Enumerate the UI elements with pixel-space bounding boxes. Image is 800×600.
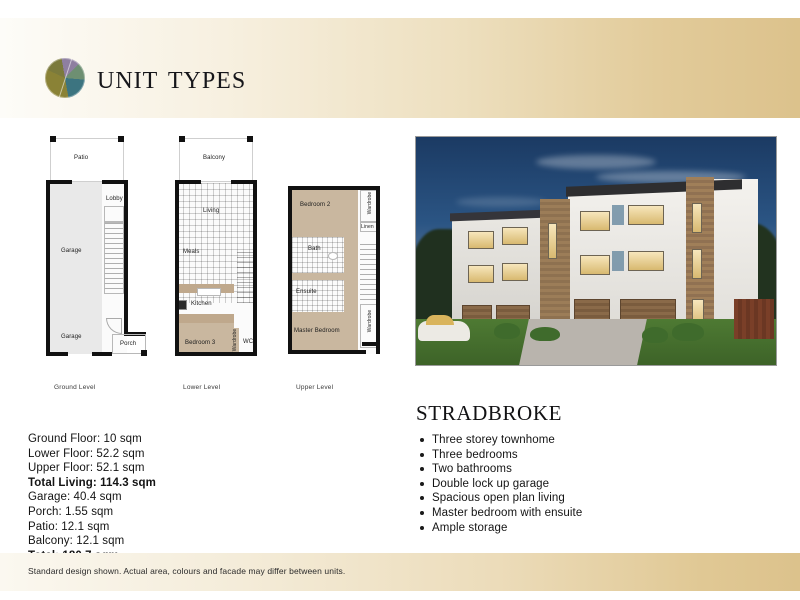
area-row: Balcony: 12.1 sqm xyxy=(28,534,258,549)
upper-wall-left xyxy=(288,186,292,354)
room-label-lobby: Lobby xyxy=(106,196,123,202)
window-shade-panel xyxy=(612,251,624,271)
upper-wall-right xyxy=(376,186,380,354)
window-shade-panel xyxy=(612,205,624,225)
wall-left xyxy=(46,180,50,356)
timber-fence xyxy=(734,299,774,339)
window-icon xyxy=(692,249,702,279)
bullet-icon xyxy=(420,482,424,486)
room-label-linen: Linen xyxy=(361,224,374,230)
plan-caption-ground: Ground Level xyxy=(54,384,95,391)
feature-label: Three bedrooms xyxy=(432,448,518,463)
kitchen-island xyxy=(197,288,221,296)
room-label-garage-bottom: Garage xyxy=(61,334,82,340)
bullet-icon xyxy=(420,453,424,457)
unit-types-page: Unit Types Patio Lobby xyxy=(0,0,800,600)
area-row: Patio: 12.1 sqm xyxy=(28,520,258,535)
header-inner: Unit Types xyxy=(45,58,246,98)
window-icon xyxy=(580,211,610,231)
footer-disclaimer: Standard design shown. Actual area, colo… xyxy=(28,566,345,576)
list-item: Double lock up garage xyxy=(420,477,760,492)
area-summary-list: Ground Floor: 10 sqm Lower Floor: 52.2 s… xyxy=(28,432,258,563)
room-label-bath: Bath xyxy=(308,246,321,252)
room-label-ensuite: Ensuite xyxy=(296,289,317,295)
list-item: Two bathrooms xyxy=(420,462,760,477)
patio-post-left xyxy=(50,136,56,142)
area-row: Garage: 40.4 sqm xyxy=(28,490,258,505)
page-title: Unit Types xyxy=(97,61,246,95)
patio-post-right xyxy=(118,136,124,142)
ensuite-tile xyxy=(292,280,344,312)
wall-bottom-mid xyxy=(92,352,112,356)
driveway xyxy=(519,319,647,365)
wall-bottom-left xyxy=(46,352,68,356)
lower-wall-right xyxy=(253,180,257,356)
room-label-bedroom2: Bedroom 2 xyxy=(300,202,330,208)
shrub xyxy=(530,327,560,341)
window-icon xyxy=(502,227,528,245)
room-label-patio: Patio xyxy=(74,155,88,161)
bullet-icon xyxy=(420,467,424,471)
window-icon xyxy=(692,203,702,233)
bullet-icon xyxy=(420,438,424,442)
room-label-wc: WC xyxy=(243,339,253,345)
feature-label: Spacious open plan living xyxy=(432,491,565,506)
stair-treads xyxy=(105,223,123,293)
room-label-meals: Meals xyxy=(183,249,200,255)
window-icon xyxy=(580,255,610,275)
room-label-balcony: Balcony xyxy=(203,155,225,161)
upper-wall-step xyxy=(362,342,380,346)
balcony-post-right xyxy=(247,136,253,142)
plan-caption-upper: Upper Level xyxy=(296,384,333,391)
plan-caption-lower: Lower Level xyxy=(183,384,220,391)
list-item: Three bedrooms xyxy=(420,448,760,463)
kitchen-bench-lower xyxy=(176,314,234,323)
circle-segments-logo-icon xyxy=(45,58,85,98)
car xyxy=(418,321,470,341)
window-icon xyxy=(468,231,494,249)
bullet-icon xyxy=(420,511,424,515)
room-label-garage-top: Garage xyxy=(61,248,82,254)
stair-landing xyxy=(104,206,124,222)
basin-icon xyxy=(328,252,338,260)
wall-right xyxy=(124,180,128,336)
shrub xyxy=(672,323,704,341)
feature-label: Three storey townhome xyxy=(432,433,555,448)
bullet-icon xyxy=(420,526,424,530)
timber-cladding-left xyxy=(540,199,570,321)
list-item: Three storey townhome xyxy=(420,433,760,448)
lower-wall-left xyxy=(175,180,179,356)
area-row: Upper Floor: 52.1 sqm xyxy=(28,461,258,476)
balcony-post-left xyxy=(179,136,185,142)
room-label-bedroom3: Bedroom 3 xyxy=(185,340,215,346)
cloud-icon xyxy=(536,155,656,169)
feature-list: Three storey townhome Three bedrooms Two… xyxy=(420,433,760,535)
header-band: Unit Types xyxy=(0,18,800,118)
bedroom3-floor xyxy=(176,323,234,354)
porch-post xyxy=(141,350,147,356)
shrub xyxy=(494,323,520,339)
window-icon xyxy=(628,205,664,225)
room-label-master-bedroom: Master Bedroom xyxy=(294,328,340,334)
room-label-kitchen: Kitchen xyxy=(191,301,212,307)
window-icon xyxy=(468,265,494,283)
feature-label: Double lock up garage xyxy=(432,477,549,492)
area-row: Lower Floor: 52.2 sqm xyxy=(28,447,258,462)
upper-wall-bottom xyxy=(288,350,366,354)
townhouse-render-photo xyxy=(415,136,777,366)
feature-label: Ample storage xyxy=(432,521,507,536)
room-label-wardrobe-lower: Wardrobe xyxy=(232,327,238,353)
list-item: Ample storage xyxy=(420,521,760,536)
feature-label: Master bedroom with ensuite xyxy=(432,506,582,521)
lower-wall-bottom xyxy=(175,352,257,356)
room-label-porch: Porch xyxy=(120,341,136,347)
area-row-total-living: Total Living: 114.3 sqm xyxy=(28,476,258,491)
room-label-living: Living xyxy=(203,208,219,214)
shrub xyxy=(642,327,668,343)
window-icon xyxy=(628,251,664,271)
window-icon xyxy=(548,223,557,259)
area-row: Ground Floor: 10 sqm xyxy=(28,432,258,447)
upper-wall-top xyxy=(288,186,380,190)
list-item: Master bedroom with ensuite xyxy=(420,506,760,521)
floor-plans: Patio Lobby Garage Garage Porch xyxy=(30,132,390,397)
bullet-icon xyxy=(420,496,424,500)
list-item: Spacious open plan living xyxy=(420,491,760,506)
feature-label: Two bathrooms xyxy=(432,462,512,477)
unit-name-title: Stradbroke xyxy=(416,396,562,426)
area-row: Porch: 1.55 sqm xyxy=(28,505,258,520)
cloud-icon xyxy=(456,197,546,207)
window-icon xyxy=(502,263,528,281)
